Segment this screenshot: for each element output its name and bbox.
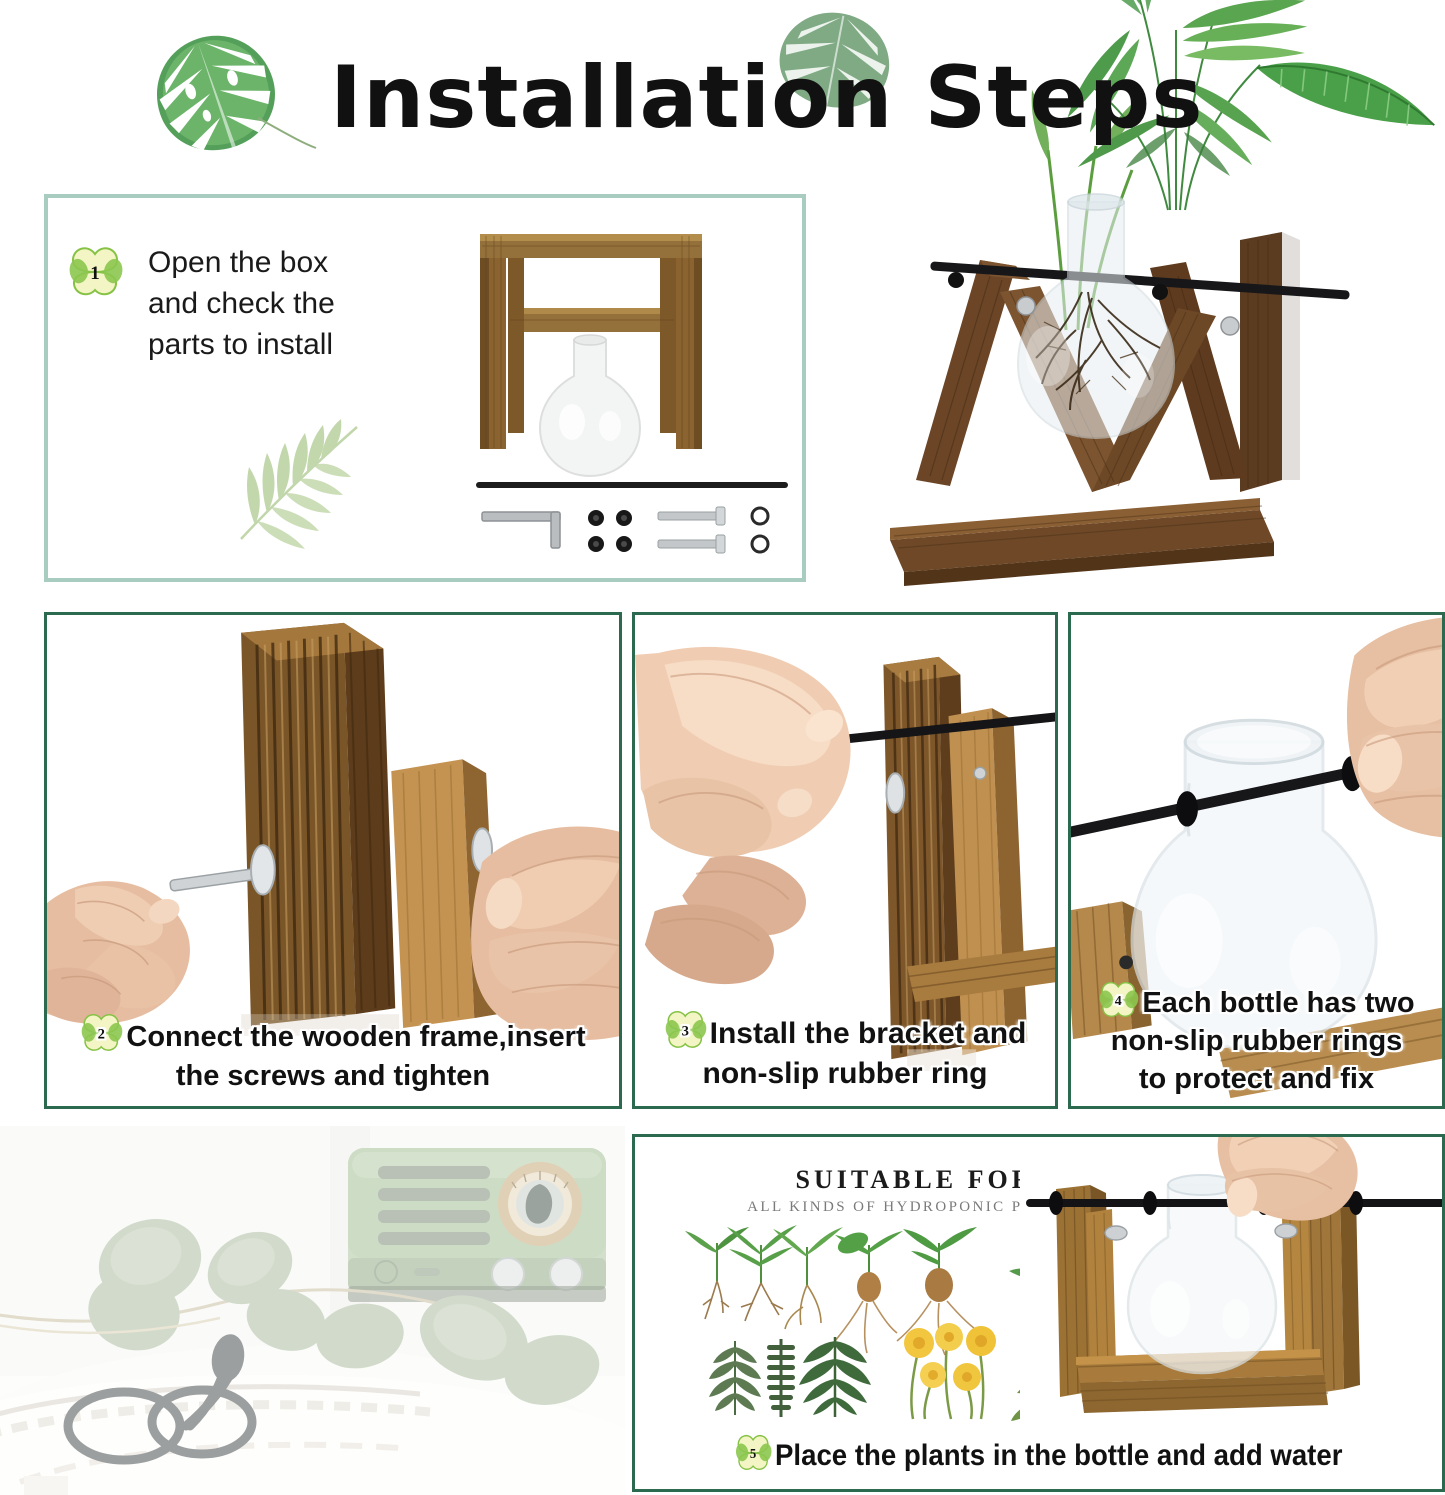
step-1-badge-number: 1 xyxy=(90,263,100,284)
step-5-panel: SUITABLE FOR ALL KINDS OF HYDROPONIC PLA… xyxy=(632,1134,1445,1492)
step-5-caption: 5 Place the plants in the bottle and add… xyxy=(667,1434,1409,1473)
screw-icon xyxy=(1105,1226,1127,1240)
palm-sprig-icon xyxy=(223,393,383,553)
clover-badge-icon: 4 xyxy=(1098,981,1140,1019)
rubber-rings-icon xyxy=(588,510,632,552)
rubber-ring-icon xyxy=(1143,1191,1157,1215)
clover-badge-icon: 3 xyxy=(664,1010,708,1050)
step-4-badge-number: 4 xyxy=(1115,994,1122,1009)
header: Installation Steps xyxy=(0,0,1445,190)
allen-key-icon xyxy=(482,512,560,548)
rooted-seedling xyxy=(685,1227,749,1319)
rooted-bulb xyxy=(835,1228,903,1353)
step-2-panel: 2 Connect the wooden frame,insert the sc… xyxy=(44,612,622,1109)
step-2-badge-number: 2 xyxy=(98,1026,105,1042)
step-4-caption-line-1: Each bottle has two xyxy=(1142,987,1414,1019)
screw-icon xyxy=(1221,317,1239,335)
screw-icon xyxy=(1275,1224,1297,1238)
step-3-panel: 3 Install the bracket and non-slip rubbe… xyxy=(632,612,1058,1109)
monstera-leaf-icon xyxy=(140,22,290,162)
step-1-text: Open the box and check the parts to inst… xyxy=(148,242,428,365)
step-5-caption-text: Place the plants in the bottle and add w… xyxy=(775,1439,1342,1472)
banana-leaf-icon xyxy=(1240,55,1440,185)
screw-icon xyxy=(886,773,904,812)
washers-icon xyxy=(752,508,768,552)
screws-icon xyxy=(658,507,725,553)
hand-placing-bottle-photo xyxy=(1020,1167,1445,1427)
right-hand xyxy=(471,827,622,1041)
page-title: Installation Steps xyxy=(330,48,1204,148)
step-3-caption-line-1: Install the bracket and xyxy=(710,1017,1027,1050)
yellow-flowers xyxy=(904,1323,996,1419)
fern-leaf xyxy=(799,1337,871,1417)
wood-post-burnt xyxy=(241,623,395,1026)
hero-product-photo xyxy=(830,180,1390,600)
step-4-caption-line-3: to protect and fix xyxy=(1139,1063,1374,1095)
wood-post-right xyxy=(1240,232,1300,492)
screw-icon xyxy=(1017,297,1035,315)
step-4-panel: 4 Each bottle has two non-slip rubber ri… xyxy=(1068,612,1445,1109)
step-1-line-3: parts to install xyxy=(148,324,428,365)
step-3-badge-number: 3 xyxy=(681,1023,688,1039)
glass-vase-with-roots xyxy=(1018,194,1174,438)
step-5-badge-number: 5 xyxy=(750,1446,757,1462)
clover-badge-icon: 1 xyxy=(68,246,124,298)
step-1-line-2: and check the xyxy=(148,283,428,324)
step-4-caption-line-2: non-slip rubber rings xyxy=(1111,1025,1403,1057)
right-hand xyxy=(1218,1134,1358,1221)
rooted-seedling xyxy=(773,1227,843,1329)
step-3-caption-line-2: non-slip rubber ring xyxy=(703,1057,988,1090)
screw-icon xyxy=(1119,955,1133,969)
clover-badge-icon: 2 xyxy=(80,1013,124,1053)
infographic-page: Installation Steps 1 Open the box and ch… xyxy=(0,0,1445,1495)
step-2-caption: 2 Connect the wooden frame,insert the sc… xyxy=(47,1013,619,1096)
step-1-line-1: Open the box xyxy=(148,242,428,283)
rubber-ring-icon xyxy=(1176,791,1198,826)
lifestyle-photo xyxy=(0,1126,625,1495)
step-2-caption-line-1: Connect the wooden frame,insert xyxy=(126,1021,585,1053)
step-1-panel: 1 Open the box and check the parts to in… xyxy=(44,194,806,582)
clover-badge-icon: 5 xyxy=(735,1434,774,1472)
metal-rod-icon xyxy=(476,482,788,488)
step-4-caption: 4 Each bottle has two non-slip rubber ri… xyxy=(1071,981,1442,1098)
wood-base xyxy=(890,498,1274,586)
fern-frond xyxy=(767,1339,795,1417)
step-2-caption-line-2: the screws and tighten xyxy=(176,1060,490,1092)
screw-icon xyxy=(974,767,986,779)
fern-leaf xyxy=(709,1341,761,1415)
step-3-caption: 3 Install the bracket and non-slip rubbe… xyxy=(635,1010,1055,1094)
parts-layout-icon xyxy=(468,216,798,566)
